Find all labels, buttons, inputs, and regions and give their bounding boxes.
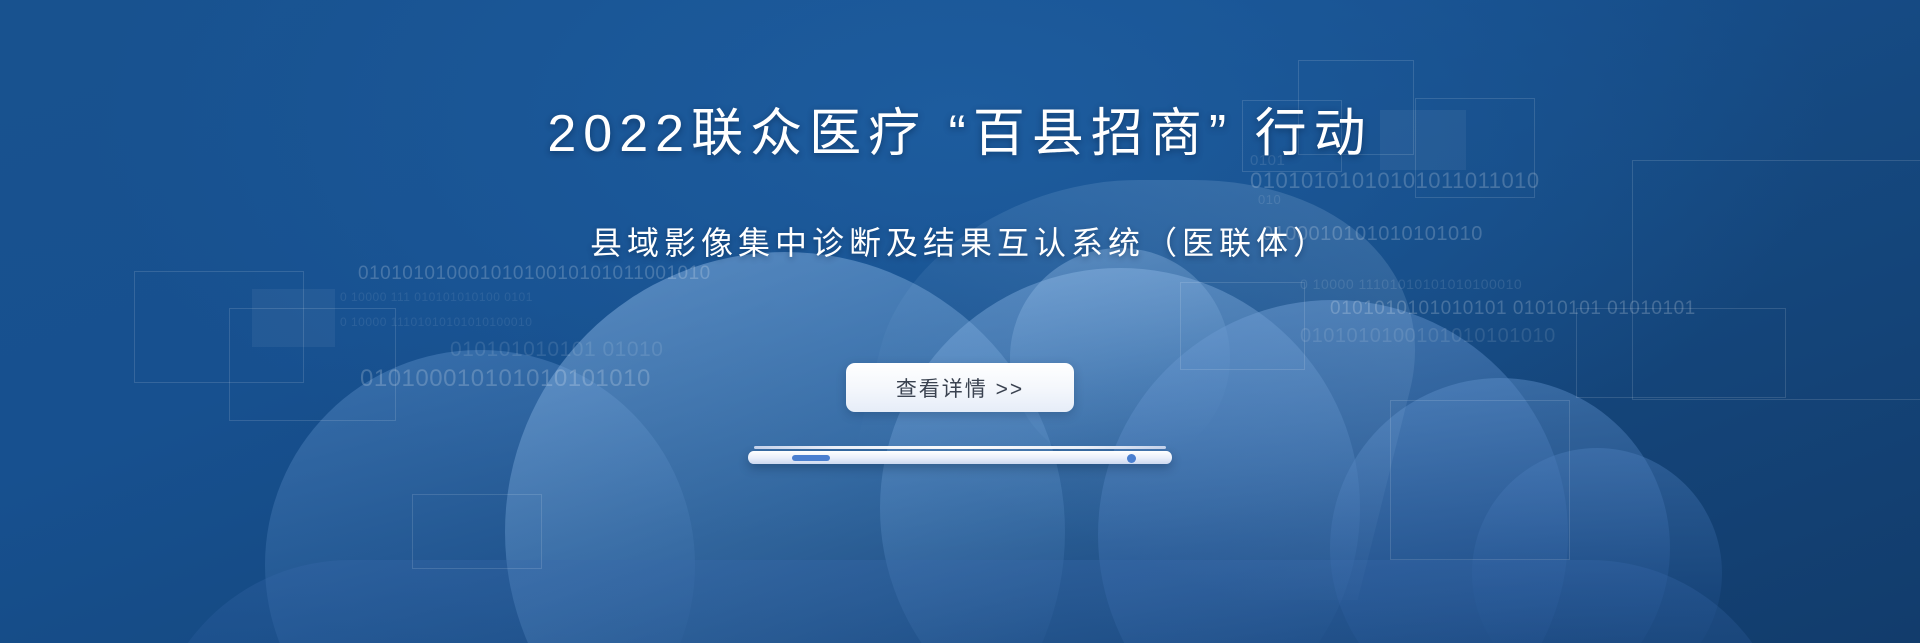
device-port-icon — [792, 455, 830, 461]
tablet-device-illustration — [748, 446, 1172, 468]
device-screen-edge — [754, 446, 1166, 449]
view-details-button[interactable]: 查看详情 >> — [846, 363, 1074, 412]
banner-title: 2022联众医疗 “百县招商” 行动 — [0, 104, 1920, 164]
banner-subtitle: 县域影像集中诊断及结果互认系统（医联体） — [0, 222, 1920, 264]
promo-banner: 01010101000101010010101011001010 0 10000… — [0, 0, 1920, 643]
banner-content: 2022联众医疗 “百县招商” 行动 县域影像集中诊断及结果互认系统（医联体） … — [0, 0, 1920, 643]
device-camera-dot-icon — [1127, 454, 1136, 463]
cta-container: 查看详情 >> — [0, 363, 1920, 412]
